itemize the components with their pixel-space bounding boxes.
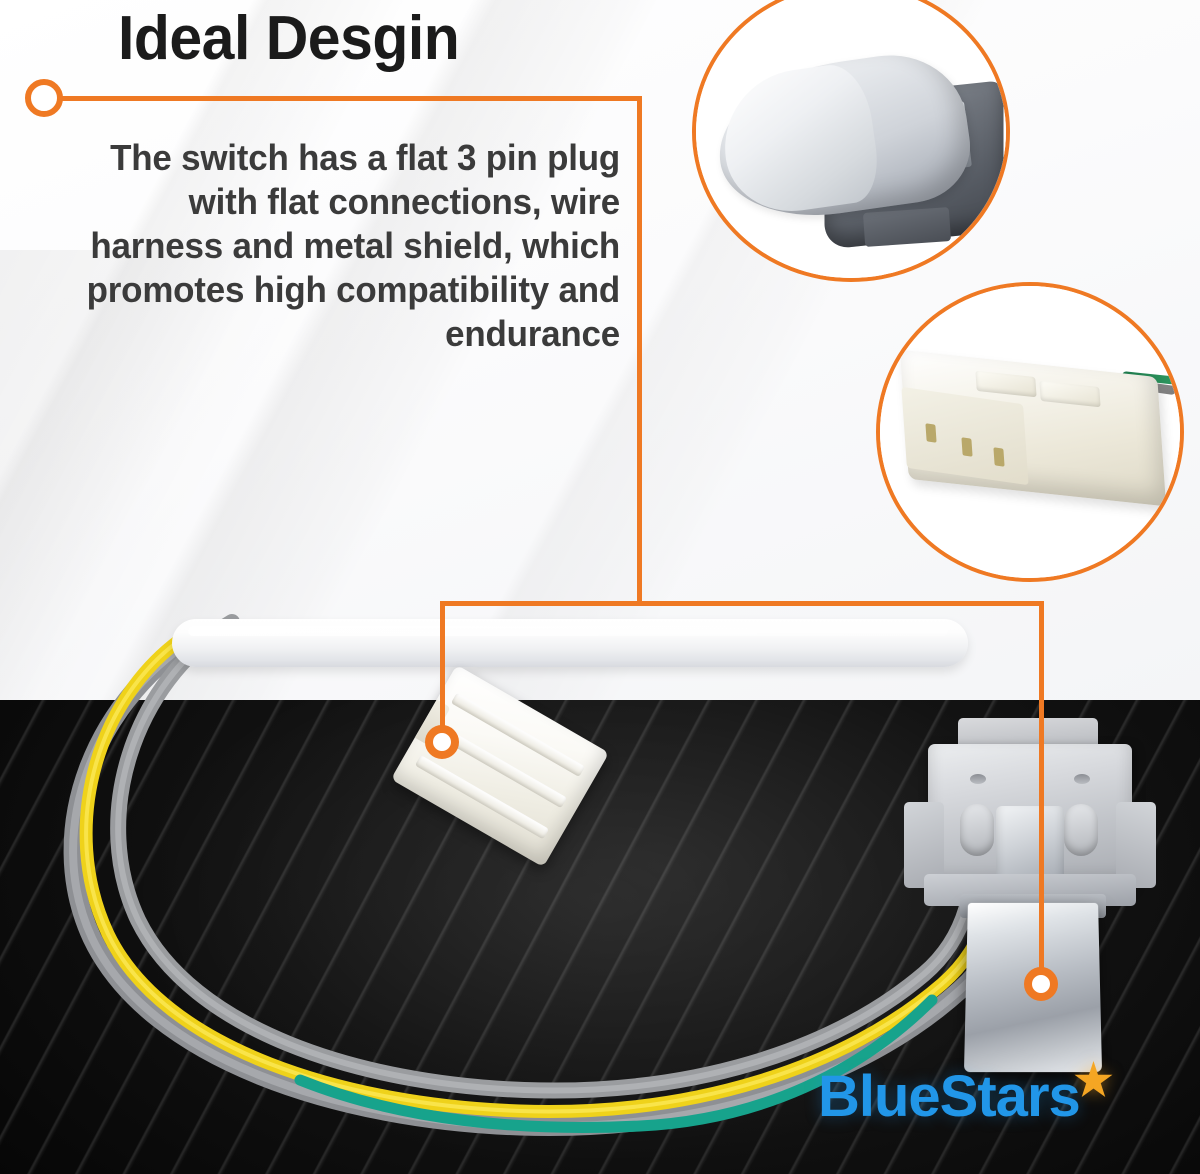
switch-hole [970,774,986,784]
inset-metal-shield-image [696,0,1006,278]
white-protective-sleeve [172,619,968,667]
switch-boss [960,804,994,856]
callout-line-switch-vertical [1039,601,1044,983]
callout-line-bottom-horizontal [440,601,1044,606]
brand-logo: BlueStars ★ [818,1063,1080,1130]
callout-line-headline-vertical [637,96,642,606]
switch-hole [1074,774,1090,784]
star-icon: ★ [1074,1059,1118,1103]
shield-metal-cap-highlight [715,60,883,220]
inset-connector-plug-image [880,286,1180,578]
page-title: Ideal Desgin [118,8,459,70]
callout-ring-switch [1024,967,1058,1001]
brand-logo-text: BlueStars [818,1064,1080,1129]
callout-ring-connector [425,725,459,759]
inset-metal-shield [692,0,1010,282]
plug-pin-slot [925,423,936,443]
plug-pin-slot [961,437,972,457]
switch-boss [1064,804,1098,856]
callout-line-connector-vertical [440,601,445,739]
door-switch-photo [904,718,1156,1070]
inset-connector-plug [876,282,1184,582]
description-text: The switch has a flat 3 pin plug with fl… [77,136,620,356]
plug-pin-slot [993,447,1004,467]
shield-foot [863,207,951,247]
callout-ring-headline [25,79,63,117]
callout-line-headline-horizontal [44,96,642,101]
promo-image-root: Ideal Desgin The switch has a flat 3 pin… [0,0,1200,1174]
